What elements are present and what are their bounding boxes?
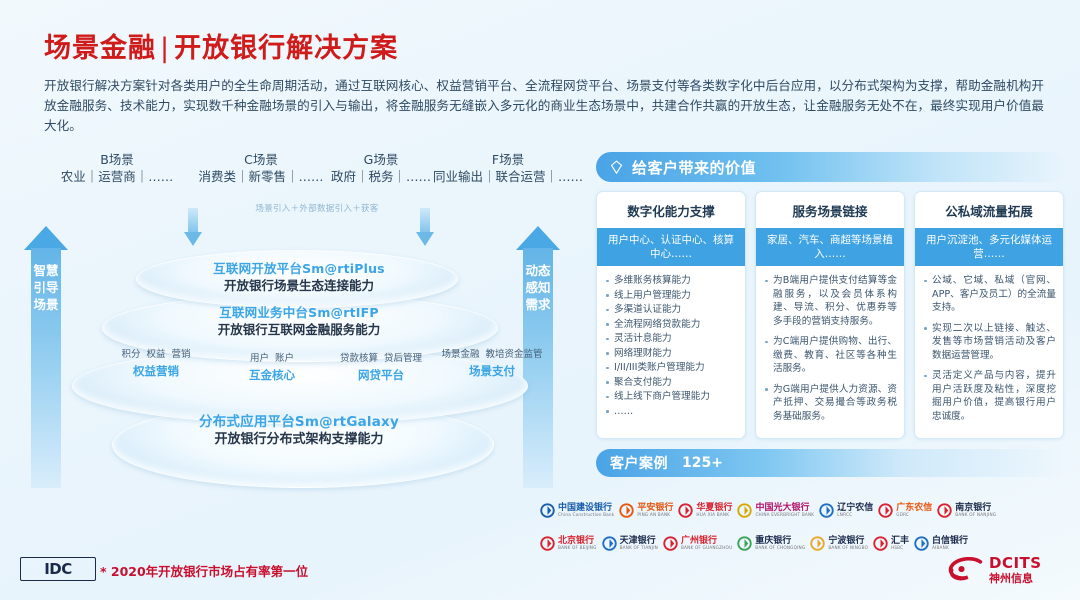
- bank-mark-icon: [737, 536, 752, 551]
- bank-mark-icon: [602, 536, 617, 551]
- capability-3-tag-1: 贷后管理: [384, 352, 422, 365]
- capability-1-name: 权益营销: [96, 363, 216, 379]
- logo-row-1: 中国建设银行China Construction Bank平安银行PING AN…: [538, 494, 1068, 527]
- intro-paragraph: 开放银行解决方案针对各类用户的全生命周期活动，通过互联网核心、权益营销平台、全流…: [44, 76, 1044, 136]
- list-item: 全流程网络贷款能力: [604, 318, 738, 332]
- capability-3-name: 网贷平台: [316, 367, 446, 383]
- footer-note: * 2020年开放银行市场占有率第一位: [100, 561, 308, 580]
- bank-logo: 重庆银行BANK OF CHONGQING: [735, 531, 807, 557]
- value-card-3-list: 公域、它域、私域（官网、APP、客户及员工）的全流量支持。 实现二次以上链接、触…: [922, 274, 1056, 423]
- layer-platform-cn: 开放银行分布式架构支撑能力: [16, 431, 582, 448]
- value-card-2-list: 为B端用户提供支付结算等金融服务，以及会员体系构建、导流、积分、优惠券等多手段的…: [763, 274, 897, 423]
- title-separator: |: [156, 33, 174, 64]
- bank-name-en: BANK OF NINGBO: [828, 546, 868, 550]
- bank-mark-icon: [873, 536, 888, 551]
- layer-midplatform-cn: 开放银行互联网金融服务能力: [16, 321, 582, 338]
- bank-logo: 北京银行BANK OF BEIJING: [538, 531, 599, 557]
- bank-logo-text: 广州银行BANK OF GUANGZHOU: [681, 537, 732, 550]
- value-card-1-subtitle: 用户中心、认证中心、核算中心……: [597, 228, 745, 266]
- value-card-2-body: 为B端用户提供支付结算等金融服务，以及会员体系构建、导流、积分、优惠券等多手段的…: [756, 266, 904, 436]
- diamond-icon: [608, 159, 625, 176]
- bank-logo: 汇丰HSBC: [871, 531, 911, 557]
- bank-name-en: BANK OF BEIJING: [558, 546, 597, 550]
- bank-name-en: AIBANK: [932, 546, 968, 550]
- bank-mark-icon: [678, 503, 693, 518]
- bank-mark-icon: [819, 503, 834, 518]
- bank-logo-text: 宁波银行BANK OF NINGBO: [828, 537, 868, 550]
- bank-logo-text: 华夏银行HUA XIA BANK: [696, 504, 732, 517]
- bank-name-en: BANK OF NANJING: [955, 513, 996, 517]
- list-item: 为C端用户提供购物、出行、缴费、教育、社区等各种生活服务。: [763, 335, 897, 376]
- dcits-brand: DCITS 神州信息: [948, 556, 1042, 584]
- bank-logo: 中国光大银行CHINA EVERBRIGHT BANK: [735, 498, 816, 524]
- bank-name-en: BANK OF TIANJIN: [620, 546, 658, 550]
- cases-ribbon: 客户案例 125+: [596, 449, 1066, 477]
- list-item: 灵活计息能力: [604, 332, 738, 346]
- value-card-2-title: 服务场景链接: [756, 192, 904, 228]
- capability-core: 用户账户 互金核心: [212, 352, 332, 383]
- bank-logo-text: 中国建设银行China Construction Bank: [558, 504, 614, 517]
- bank-logo-text: 辽宁农信LNRCC: [837, 504, 873, 517]
- list-item: 线上用户管理能力: [604, 289, 738, 303]
- layer-openplatform-en: 互联网开放平台Sm@rtiPlus: [16, 260, 582, 277]
- capability-4-name: 场景支付: [428, 363, 556, 379]
- bank-logo-text: 天津银行BANK OF TIANJIN: [620, 537, 658, 550]
- value-panel: 给客户带来的价值 数字化能力支撑 用户中心、认证中心、核算中心…… 多维账务核算…: [596, 152, 1066, 477]
- bank-mark-icon: [937, 503, 952, 518]
- layer-midplatform-en: 互联网业务中台Sm@rtIFP: [16, 304, 582, 321]
- bank-logo-text: 汇丰HSBC: [891, 537, 909, 550]
- scenario-f-value: 同业输出｜联合运营｜……: [408, 168, 608, 186]
- bank-mark-icon: [663, 536, 678, 551]
- bank-mark-icon: [878, 503, 893, 518]
- layer-openplatform-cn: 开放银行场景生态连接能力: [16, 277, 582, 294]
- value-card-1-title: 数字化能力支撑: [597, 192, 745, 228]
- list-item: 公域、它域、私域（官网、APP、客户及员工）的全流量支持。: [922, 274, 1056, 315]
- bank-logo-text: 白信银行AIBANK: [932, 537, 968, 550]
- capability-4-tag-1: 教培资金监管: [486, 348, 543, 361]
- capability-2-tags: 用户账户: [212, 352, 332, 365]
- scenario-f-key: F场景: [408, 152, 608, 168]
- bank-logo: 南京银行BANK OF NANJING: [935, 498, 998, 524]
- capability-rights-marketing: 积分权益营销 权益营销: [96, 348, 216, 379]
- bank-mark-icon: [737, 503, 752, 518]
- bank-logo-text: 南京银行BANK OF NANJING: [955, 504, 996, 517]
- list-item: 聚合支付能力: [604, 376, 738, 390]
- dcits-brand-en: DCITS: [989, 556, 1042, 571]
- value-card-3: 公私域流量拓展 用户沉淀池、多元化媒体运营…… 公域、它域、私域（官网、APP、…: [914, 191, 1064, 439]
- value-cards: 数字化能力支撑 用户中心、认证中心、核算中心…… 多维账务核算能力 线上用户管理…: [596, 191, 1066, 439]
- bank-name-en: PING AN BANK: [637, 513, 673, 517]
- value-ribbon-label: 给客户带来的价值: [632, 157, 756, 178]
- down-arrow-icon-2: [416, 208, 434, 248]
- bank-logo: 广东农信GDRC: [876, 498, 934, 524]
- value-card-3-body: 公域、它域、私域（官网、APP、客户及员工）的全流量支持。 实现二次以上链接、触…: [915, 266, 1063, 436]
- bank-mark-icon: [540, 536, 555, 551]
- bank-logo: 天津银行BANK OF TIANJIN: [600, 531, 660, 557]
- list-item: 线上线下商户管理能力: [604, 390, 738, 404]
- value-card-3-subtitle: 用户沉淀池、多元化媒体运营……: [915, 228, 1063, 266]
- list-item: 灵活定义产品与内容，提升用户活跃度及粘性，深度挖掘用户价值，提高银行用户忠诚度。: [922, 369, 1056, 423]
- cases-ribbon-label: 客户案例: [610, 453, 668, 473]
- layer-midplatform-labels: 互联网业务中台Sm@rtIFP 开放银行互联网金融服务能力: [16, 304, 582, 338]
- bank-logo: 华夏银行HUA XIA BANK: [676, 498, 734, 524]
- bank-logo: 广州银行BANK OF GUANGZHOU: [661, 531, 734, 557]
- bank-logo-text: 重庆银行BANK OF CHONGQING: [755, 537, 805, 550]
- capability-loan-platform: 贷款核算贷后管理 网贷平台: [316, 352, 446, 383]
- capability-1-tags: 积分权益营销: [96, 348, 216, 361]
- list-item: 为G端用户提供人力资源、资产抵押、交易撮合等政务税务基础服务。: [763, 383, 897, 424]
- infographic-page: 场景金融|开放银行解决方案 开放银行解决方案针对各类用户的全生命周期活动，通过互…: [0, 0, 1080, 600]
- bank-mark-icon: [810, 536, 825, 551]
- bank-name-en: HSBC: [891, 546, 909, 550]
- title-left: 场景金融: [44, 33, 156, 64]
- layer-platform-en: 分布式应用平台Sm@rtGalaxy: [16, 414, 582, 431]
- layer-openplatform-labels: 互联网开放平台Sm@rtiPlus 开放银行场景生态连接能力: [16, 260, 582, 294]
- bank-name-en: GDRC: [896, 513, 932, 517]
- bank-mark-icon: [914, 536, 929, 551]
- list-item: 多渠道认证能力: [604, 303, 738, 317]
- bank-name-en: LNRCC: [837, 513, 873, 517]
- bank-logo: 辽宁农信LNRCC: [817, 498, 875, 524]
- capability-2-tag-0: 用户: [250, 352, 269, 365]
- bank-logo: 白信银行AIBANK: [912, 531, 970, 557]
- list-item: 实现二次以上链接、触达、发售等市场营销活动及客户数据运营管理。: [922, 322, 1056, 363]
- bank-logo: 中国建设银行China Construction Bank: [538, 498, 616, 524]
- layer-platform-labels: 分布式应用平台Sm@rtGalaxy 开放银行分布式架构支撑能力: [16, 414, 582, 448]
- scenario-f: F场景 同业输出｜联合运营｜……: [408, 152, 608, 186]
- list-item: 为B端用户提供支付结算等金融服务，以及会员体系构建、导流、积分、优惠券等多手段的…: [763, 274, 897, 328]
- capability-2-tag-1: 账户: [275, 352, 294, 365]
- bank-logo-text: 中国光大银行CHINA EVERBRIGHT BANK: [755, 504, 814, 517]
- bank-name-en: BANK OF GUANGZHOU: [681, 546, 732, 550]
- cases-count: 125+: [682, 455, 723, 471]
- solution-diagram: B场景 农业｜运营商｜…… C场景 消费类｜新零售｜…… G场景 政府｜税务｜……: [16, 152, 582, 512]
- capability-3-tags: 贷款核算贷后管理: [316, 352, 446, 365]
- bank-logo: 宁波银行BANK OF NINGBO: [808, 531, 870, 557]
- capability-1-tag-1: 权益: [146, 348, 165, 361]
- dcits-swirl-icon: [948, 557, 984, 583]
- capability-4-tags: 场景金融教培资金监管: [428, 348, 556, 361]
- value-card-2: 服务场景链接 家居、汽车、商超等场景植入…… 为B端用户提供支付结算等金融服务，…: [755, 191, 905, 439]
- capability-1-tag-0: 积分: [121, 348, 140, 361]
- page-title: 场景金融|开放银行解决方案: [44, 26, 398, 65]
- capability-scene-payment: 场景金融教培资金监管 场景支付: [428, 348, 556, 379]
- list-item: ……: [604, 405, 738, 419]
- bank-name-en: CHINA EVERBRIGHT BANK: [755, 513, 814, 517]
- bank-mark-icon: [540, 503, 555, 518]
- capability-4-tag-0: 场景金融: [441, 348, 479, 361]
- customer-logos: 中国建设银行China Construction Bank平安银行PING AN…: [538, 494, 1068, 560]
- bank-logo-text: 平安银行PING AN BANK: [637, 504, 673, 517]
- value-ribbon: 给客户带来的价值: [596, 152, 1066, 182]
- bank-logo-text: 广东农信GDRC: [896, 504, 932, 517]
- value-card-3-title: 公私域流量拓展: [915, 192, 1063, 228]
- title-right: 开放银行解决方案: [174, 33, 398, 64]
- idc-label: IDC: [44, 560, 72, 578]
- list-item: 网络理财能力: [604, 347, 738, 361]
- list-item: 多维账务核算能力: [604, 274, 738, 288]
- bank-name-en: China Construction Bank: [558, 513, 614, 517]
- capability-3-tag-0: 贷款核算: [340, 352, 378, 365]
- bank-mark-icon: [619, 503, 634, 518]
- bank-name-en: HUA XIA BANK: [696, 513, 732, 517]
- value-card-1: 数字化能力支撑 用户中心、认证中心、核算中心…… 多维账务核算能力 线上用户管理…: [596, 191, 746, 439]
- bank-logo: 平安银行PING AN BANK: [617, 498, 675, 524]
- idc-logo: IDC: [20, 557, 96, 581]
- list-item: I/II/III类账户管理能力: [604, 361, 738, 375]
- flow-note: 场景引入＋外部数据引入＋获客: [212, 202, 422, 214]
- value-card-2-subtitle: 家居、汽车、商超等场景植入……: [756, 228, 904, 266]
- down-arrow-icon-1: [184, 208, 202, 248]
- dcits-text: DCITS 神州信息: [989, 556, 1042, 584]
- dcits-brand-cn: 神州信息: [989, 573, 1042, 584]
- value-card-1-body: 多维账务核算能力 线上用户管理能力 多渠道认证能力 全流程网络贷款能力 灵活计息…: [597, 266, 745, 425]
- bank-name-en: BANK OF CHONGQING: [755, 546, 805, 550]
- value-card-1-list: 多维账务核算能力 线上用户管理能力 多渠道认证能力 全流程网络贷款能力 灵活计息…: [604, 274, 738, 418]
- bank-logo-text: 北京银行BANK OF BEIJING: [558, 537, 597, 550]
- capability-2-name: 互金核心: [212, 367, 332, 383]
- capability-1-tag-2: 营销: [172, 348, 191, 361]
